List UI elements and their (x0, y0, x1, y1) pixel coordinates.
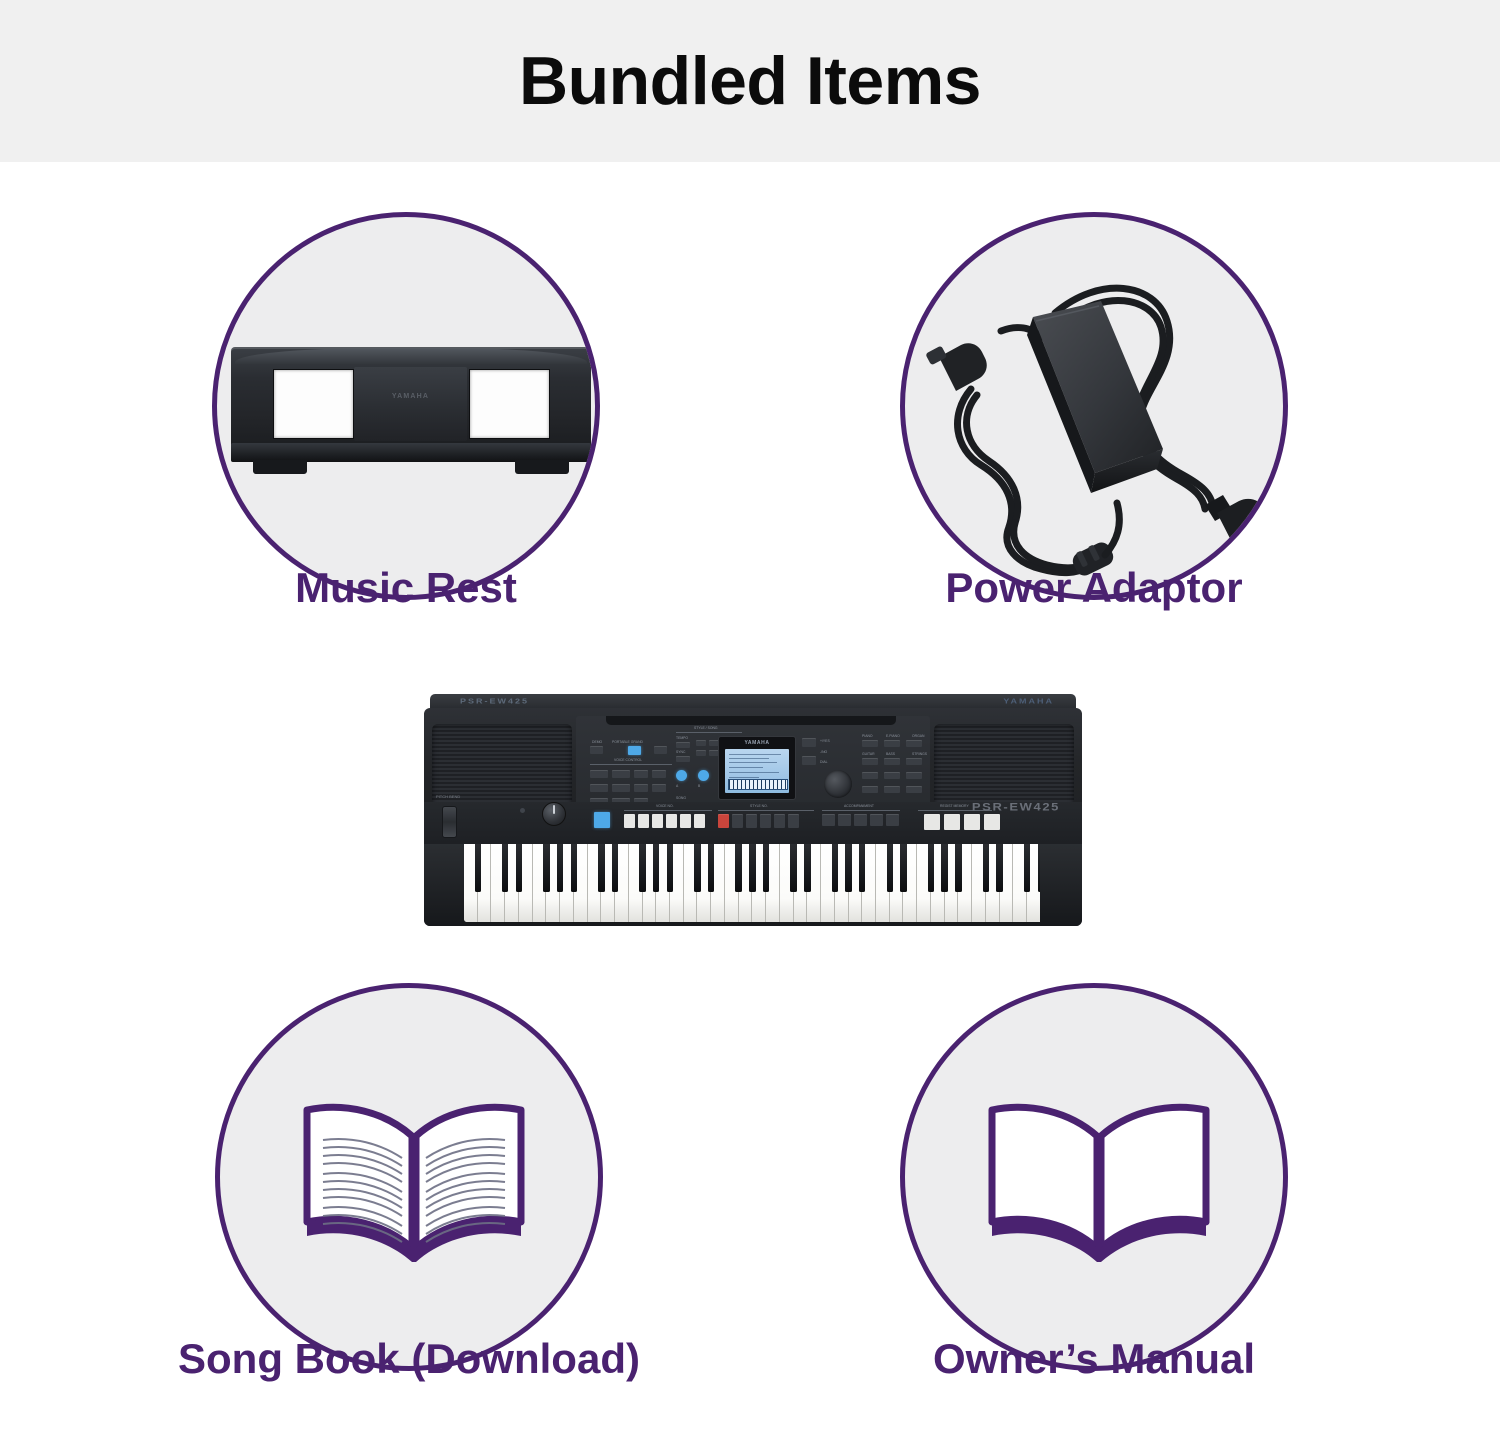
voice-button-7[interactable] (634, 784, 648, 792)
piano-black-key[interactable] (694, 844, 700, 892)
piano-black-key[interactable] (1024, 844, 1030, 892)
music-rest-circle: YAMAHA (212, 212, 600, 600)
lcd-yamaha-logo: YAMAHA (719, 740, 795, 746)
piano-black-key[interactable] (955, 844, 961, 892)
owners-manual-label: Owner’s Manual (790, 1335, 1398, 1383)
piano-black-key[interactable] (749, 844, 755, 892)
keyboard-top-model-text: PSR-EW425 (460, 697, 529, 705)
keyboard-top-brand-text: YAMAHA (1003, 697, 1054, 705)
style-num-4[interactable] (760, 814, 771, 828)
piano-black-key[interactable] (983, 844, 989, 892)
style-num-1[interactable] (718, 814, 729, 828)
power-adaptor-icon (905, 217, 1283, 595)
voice-button-8[interactable] (652, 784, 666, 792)
portable-grand-button[interactable] (628, 746, 641, 755)
voice-category-6[interactable] (906, 758, 922, 765)
style-num-2[interactable] (732, 814, 743, 828)
tempo-button[interactable] (676, 742, 690, 748)
accomp-button-3[interactable] (854, 814, 867, 826)
voice-category-3[interactable] (906, 740, 922, 747)
style-button-1[interactable] (696, 740, 706, 746)
voice-button-6[interactable] (612, 784, 630, 792)
function-button[interactable] (802, 738, 816, 747)
voice-category-10[interactable] (862, 786, 878, 793)
piano-black-key[interactable] (516, 844, 522, 892)
accomp-button-4[interactable] (870, 814, 883, 826)
voice-num-2[interactable] (638, 814, 649, 828)
voice-category-8[interactable] (884, 772, 900, 779)
voice-num-5[interactable] (680, 814, 691, 828)
voice-category-11[interactable] (884, 786, 900, 793)
exit-button[interactable] (802, 756, 816, 765)
intro-ending-button[interactable] (698, 770, 709, 781)
piano-black-key[interactable] (804, 844, 810, 892)
voice-button-1[interactable] (590, 770, 608, 778)
voice-button-5[interactable] (590, 784, 608, 792)
music-rest-slot (606, 716, 896, 725)
piano-black-key[interactable] (887, 844, 893, 892)
accomp-button-1[interactable] (822, 814, 835, 826)
keyboard-endcap-right (1040, 844, 1082, 926)
piano-black-key[interactable] (859, 844, 865, 892)
piano-black-key[interactable] (667, 844, 673, 892)
voice-num-1[interactable] (624, 814, 635, 828)
piano-black-key[interactable] (845, 844, 851, 892)
voice-button-3[interactable] (634, 770, 648, 778)
power-adaptor-label: Power Adaptor (800, 564, 1388, 612)
voice-category-2[interactable] (884, 740, 900, 747)
piano-black-key[interactable] (735, 844, 741, 892)
demo-button[interactable] (590, 746, 603, 754)
piano-black-key[interactable] (598, 844, 604, 892)
piano-black-key[interactable] (571, 844, 577, 892)
piano-black-key[interactable] (612, 844, 618, 892)
grand-piano-button[interactable] (594, 812, 610, 828)
voice-category-1[interactable] (862, 740, 878, 747)
piano-black-key[interactable] (502, 844, 508, 892)
metronome-button[interactable] (654, 746, 667, 754)
song-book-circle (215, 983, 603, 1371)
lcd-display (725, 749, 789, 793)
voice-category-5[interactable] (884, 758, 900, 765)
voice-num-4[interactable] (666, 814, 677, 828)
piano-black-key[interactable] (996, 844, 1002, 892)
piano-black-key[interactable] (928, 844, 934, 892)
voice-category-9[interactable] (906, 772, 922, 779)
voice-num-6[interactable] (694, 814, 705, 828)
voice-category-12[interactable] (906, 786, 922, 793)
music-rest-icon: YAMAHA (231, 347, 591, 482)
lcd-bezel: YAMAHA (718, 736, 796, 800)
regist-memory-4[interactable] (984, 814, 1000, 830)
style-num-5[interactable] (774, 814, 785, 828)
voice-button-2[interactable] (612, 770, 630, 778)
style-num-3[interactable] (746, 814, 757, 828)
open-book-lined-icon (299, 1096, 529, 1268)
voice-button-4[interactable] (652, 770, 666, 778)
piano-black-key[interactable] (790, 844, 796, 892)
speaker-grille-right (934, 724, 1074, 810)
piano-black-key[interactable] (708, 844, 714, 892)
power-adaptor-circle (900, 212, 1288, 600)
accomp-button-2[interactable] (838, 814, 851, 826)
sync-button[interactable] (676, 756, 690, 762)
piano-black-key[interactable] (639, 844, 645, 892)
regist-memory-1[interactable] (924, 814, 940, 830)
piano-black-key[interactable] (832, 844, 838, 892)
page-title: Bundled Items (0, 0, 1500, 162)
style-num-6[interactable] (788, 814, 799, 828)
pitch-bend-wheel[interactable] (442, 806, 457, 838)
piano-keys[interactable] (464, 844, 1082, 922)
piano-black-key[interactable] (653, 844, 659, 892)
piano-black-key[interactable] (557, 844, 563, 892)
piano-black-key[interactable] (763, 844, 769, 892)
piano-black-key[interactable] (543, 844, 549, 892)
start-stop-button[interactable] (676, 770, 687, 781)
data-dial[interactable] (824, 770, 852, 798)
regist-memory-2[interactable] (944, 814, 960, 830)
keyboard-product-image: PSR-EW425 YAMAHA DEMO PORTABLE GRAND VOI… (424, 694, 1082, 936)
song-book-label: Song Book (Download) (95, 1335, 723, 1383)
power-indicator-led (520, 808, 525, 813)
voice-category-4[interactable] (862, 758, 878, 765)
music-rest-label: Music Rest (112, 564, 700, 612)
piano-black-key[interactable] (941, 844, 947, 892)
voice-category-7[interactable] (862, 772, 878, 779)
piano-black-key[interactable] (900, 844, 906, 892)
accomp-button-5[interactable] (886, 814, 899, 826)
master-volume-knob[interactable] (542, 802, 566, 826)
keyboard-model-label: PSR-EW425 (972, 800, 1060, 813)
regist-memory-3[interactable] (964, 814, 980, 830)
pitch-bend-label: PITCH BEND (436, 794, 460, 799)
keyboard-endcap-left (424, 844, 464, 926)
owners-manual-circle (900, 983, 1288, 1371)
piano-black-key[interactable] (475, 844, 481, 892)
style-button-4[interactable] (696, 750, 706, 756)
open-book-blank-icon (984, 1096, 1214, 1268)
yamaha-logo-text: YAMAHA (354, 393, 467, 400)
voice-num-3[interactable] (652, 814, 663, 828)
lcd-keyboard-graphic (728, 779, 788, 790)
